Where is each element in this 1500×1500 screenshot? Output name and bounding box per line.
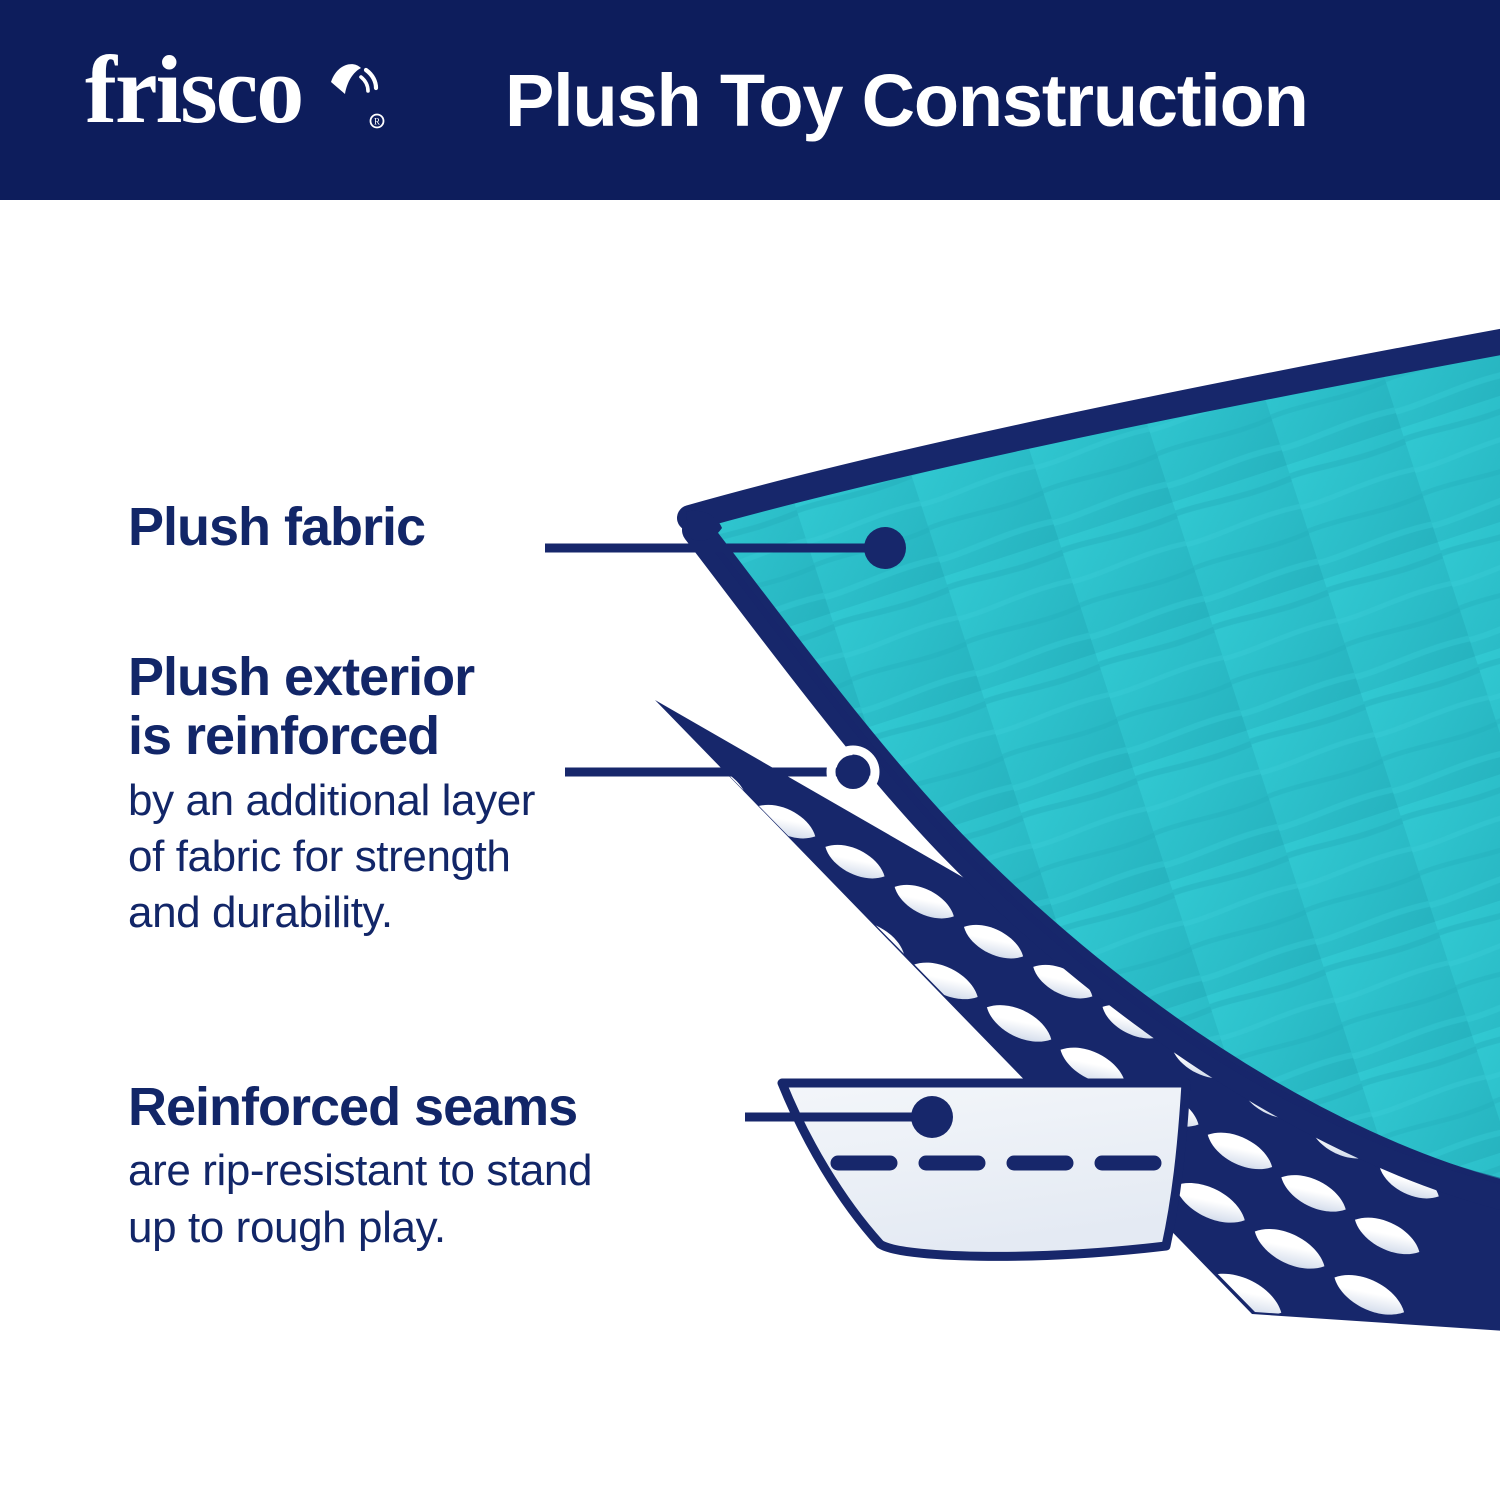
callout-plush-fabric: Plush fabric — [128, 498, 425, 563]
callout-reinforced-seams: Reinforced seams are rip-resistant to st… — [128, 1078, 592, 1256]
infographic-page: frisco R Plush Toy Construction — [0, 0, 1500, 1500]
callout-body-plush-exterior: by an additional layer of fabric for str… — [128, 773, 535, 942]
callout-text-group: Plush fabric Plush exterior is reinforce… — [0, 0, 1500, 1500]
callout-heading-plush-fabric: Plush fabric — [128, 498, 425, 557]
callout-heading-reinforced-seams: Reinforced seams — [128, 1078, 592, 1137]
callout-heading-plush-exterior: Plush exterior is reinforced — [128, 648, 535, 767]
callout-body-reinforced-seams: are rip-resistant to stand up to rough p… — [128, 1143, 592, 1256]
callout-plush-exterior: Plush exterior is reinforced by an addit… — [128, 648, 535, 942]
